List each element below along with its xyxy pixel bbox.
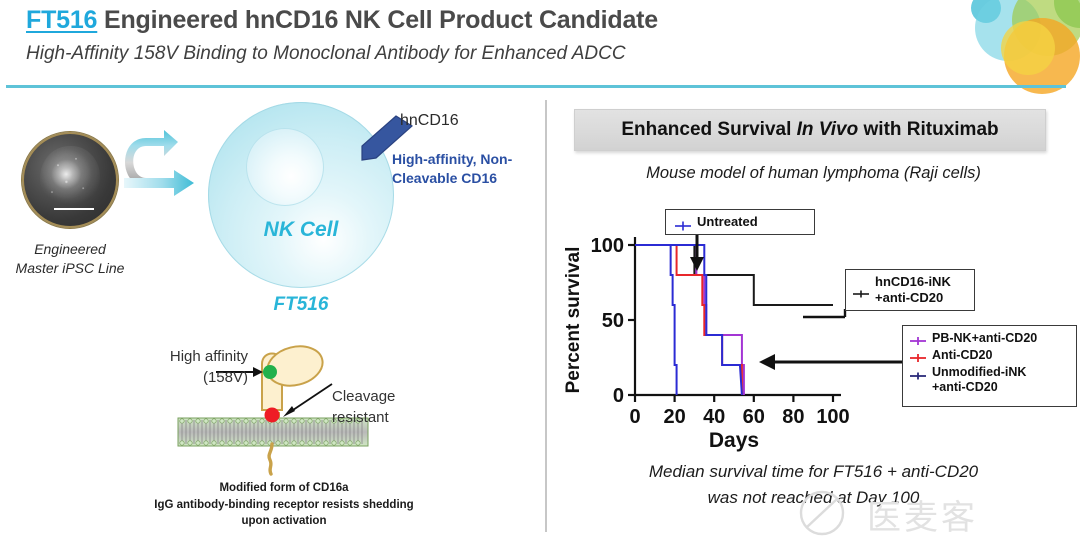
- y-tick-label: 50: [602, 310, 624, 332]
- cd16a-schematic: High affinity (158V) Cleavage resistant …: [120, 340, 450, 540]
- x-tick-label: 100: [816, 406, 849, 428]
- legend-item-unmodified-ink: Unmodified-iNK +anti-CD20: [909, 365, 1076, 395]
- legend-marker-untreated-icon: [674, 220, 692, 232]
- legend-label-unmodified-line2: +anti-CD20: [932, 380, 998, 394]
- differentiation-arrow-icon: [118, 128, 208, 218]
- results-banner: Enhanced Survival In Vivo with Rituximab: [574, 109, 1046, 151]
- legend-item-anticd20: Anti-CD20: [909, 348, 1076, 363]
- chart-legend: PB-NK+anti-CD20 Anti-CD20 Unmodified-iNK…: [902, 325, 1077, 407]
- legend-pointer-arrow-icon: [759, 354, 907, 370]
- legend-marker-hncd16-icon: [852, 288, 870, 300]
- left-panel: Engineered Master iPSC Line: [0, 92, 545, 543]
- ipsc-colony-image: [22, 132, 118, 228]
- page-subtitle: High-Affinity 158V Binding to Monoclonal…: [26, 43, 626, 65]
- page-title: FT516 Engineered hnCD16 NK Cell Product …: [26, 6, 658, 35]
- callout-hncd16-line1: hnCD16-iNK: [875, 274, 951, 289]
- nk-cell-nucleus: [246, 128, 324, 206]
- title-highlight: FT516: [26, 6, 97, 34]
- x-axis-label: Days: [709, 429, 759, 452]
- series-pb-nk-anti-cd20: [635, 245, 744, 395]
- banner-pre: Enhanced Survival: [621, 119, 796, 140]
- cd16a-caption-line3: upon activation: [104, 513, 464, 530]
- high-affinity-158v-label: High affinity (158V): [138, 346, 248, 388]
- x-tick-label: 60: [743, 406, 765, 428]
- high-affinity-158v-line1: High affinity: [138, 346, 248, 367]
- callout-hncd16-ink: hnCD16-iNK +anti-CD20: [845, 269, 975, 311]
- cd16a-caption: Modified form of CD16a IgG antibody-bind…: [104, 480, 464, 530]
- median-survival-note: Median survival time for FT516 + anti-CD…: [547, 459, 1080, 510]
- hncd16-label: hnCD16: [400, 112, 459, 130]
- legend-marker-unmodified-icon: [909, 369, 927, 381]
- x-tick-label: 0: [629, 406, 640, 428]
- nk-cell-label: NK Cell: [208, 218, 394, 242]
- callout-untreated-label: Untreated: [697, 214, 758, 230]
- title-rest: Engineered hnCD16 NK Cell Product Candid…: [97, 6, 658, 34]
- legend-item-pbnk: PB-NK+anti-CD20: [909, 331, 1076, 346]
- x-tick-label: 80: [782, 406, 804, 428]
- legend-marker-pbnk-icon: [909, 335, 927, 347]
- cleavage-resistant-label: Cleavage resistant: [332, 386, 442, 428]
- company-logo-icon: [930, 0, 1080, 94]
- legend-label-unmodified-line1: Unmodified-iNK: [932, 365, 1026, 379]
- x-tick-label: 40: [703, 406, 725, 428]
- model-subtitle: Mouse model of human lymphoma (Raji cell…: [547, 164, 1080, 183]
- untreated-arrow-icon: [690, 235, 704, 271]
- callout-hncd16-label: hnCD16-iNK +anti-CD20: [875, 274, 951, 305]
- series-untreated: [635, 245, 677, 395]
- slide-root: FT516 Engineered hnCD16 NK Cell Product …: [0, 0, 1080, 543]
- y-tick-label: 100: [591, 235, 624, 257]
- series-hncd16-ink-anti-cd20: [635, 245, 833, 305]
- high-affinity-158v-line2: (158V): [138, 367, 248, 388]
- banner-italic: In Vivo: [797, 119, 859, 140]
- ft516-label: FT516: [208, 294, 394, 316]
- callout-untreated: Untreated: [665, 209, 815, 235]
- results-banner-text: Enhanced Survival In Vivo with Rituximab: [621, 119, 998, 141]
- ipsc-scale-bar: [54, 208, 94, 210]
- ipsc-colony-texture: [40, 146, 100, 210]
- ipsc-caption-line2: Master iPSC Line: [6, 259, 134, 278]
- legend-label-unmodified: Unmodified-iNK +anti-CD20: [932, 365, 1026, 395]
- cd16a-caption-line2: IgG antibody-binding receptor resists sh…: [104, 497, 464, 514]
- ipsc-caption: Engineered Master iPSC Line: [6, 240, 134, 278]
- header-divider-rule: [6, 85, 1066, 88]
- median-survival-line2: was not reached at Day 100: [547, 485, 1080, 511]
- banner-post: with Rituximab: [858, 119, 998, 140]
- callout-hncd16-line2: +anti-CD20: [875, 290, 943, 305]
- x-tick-label: 20: [663, 406, 685, 428]
- y-tick-label: 0: [613, 385, 624, 407]
- y-axis-label: Percent survival: [563, 247, 584, 394]
- slide-header: FT516 Engineered hnCD16 NK Cell Product …: [0, 0, 1080, 90]
- high-affinity-line1: High-affinity, Non-: [392, 150, 542, 169]
- series-anti-cd20: [635, 245, 742, 395]
- cleavage-resistant-line2: resistant: [332, 407, 442, 428]
- cd16a-caption-line1: Modified form of CD16a: [104, 480, 464, 497]
- series-unmodified-ink-anti-cd20: [635, 245, 742, 395]
- survival-chart: 050100020406080100DaysPercent survival U…: [557, 197, 1077, 455]
- high-affinity-noncleavable-label: High-affinity, Non- Cleavable CD16: [392, 150, 542, 188]
- legend-marker-anticd20-icon: [909, 352, 927, 364]
- ipsc-caption-line1: Engineered: [6, 240, 134, 259]
- cleavage-resistant-line1: Cleavage: [332, 386, 442, 407]
- high-affinity-line2: Cleavable CD16: [392, 169, 542, 188]
- legend-label-pbnk: PB-NK+anti-CD20: [932, 331, 1037, 346]
- right-panel: Enhanced Survival In Vivo with Rituximab…: [547, 92, 1080, 543]
- hncd16-pointer-icon: [803, 309, 845, 317]
- legend-label-anticd20: Anti-CD20: [932, 348, 992, 363]
- median-survival-line1: Median survival time for FT516 + anti-CD…: [547, 459, 1080, 485]
